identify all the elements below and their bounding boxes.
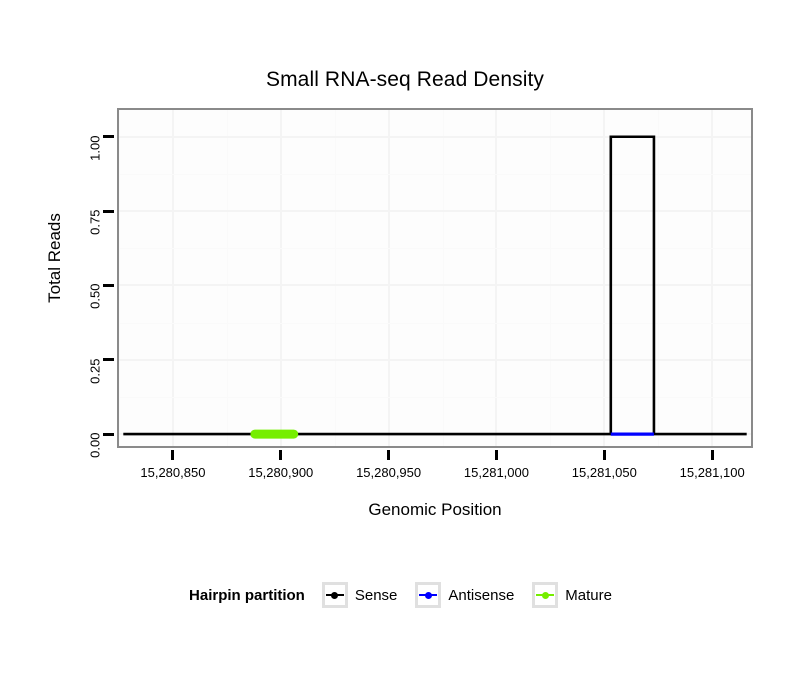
x-axis-tick	[171, 450, 174, 460]
data-layer	[119, 110, 751, 446]
legend-key-dot	[331, 592, 338, 599]
x-axis-tick	[387, 450, 390, 460]
legend-key-dot	[425, 592, 432, 599]
y-axis-tick-label: 1.00	[88, 135, 103, 235]
legend-key-dot	[542, 592, 549, 599]
legend-key-sense-icon	[322, 582, 348, 608]
y-axis-tick	[103, 284, 114, 287]
legend-label: Sense	[355, 587, 398, 604]
legend-title: Hairpin partition	[189, 587, 305, 604]
legend-key-mature-icon	[532, 582, 558, 608]
x-axis-tick-label: 15,280,900	[231, 465, 331, 480]
x-axis-tick	[495, 450, 498, 460]
plot-panel	[117, 108, 753, 448]
y-axis-tick	[103, 210, 114, 213]
legend-entry-mature[interactable]: Mature	[532, 582, 621, 608]
legend-entry-antisense[interactable]: Antisense	[415, 582, 523, 608]
x-axis-tick-label: 15,281,100	[662, 465, 762, 480]
x-axis-tick	[603, 450, 606, 460]
y-axis-tick	[103, 358, 114, 361]
legend: Hairpin partition SenseAntisenseMature	[0, 582, 810, 608]
legend-label: Mature	[565, 587, 612, 604]
x-axis-tick-label: 15,281,000	[446, 465, 546, 480]
x-axis-tick	[279, 450, 282, 460]
legend-label: Antisense	[448, 587, 514, 604]
series-line-sense	[123, 137, 746, 434]
x-axis-tick-label: 15,281,050	[554, 465, 654, 480]
x-axis-tick	[711, 450, 714, 460]
y-axis-title: Total Reads	[45, 158, 65, 358]
y-axis-tick	[103, 135, 114, 138]
legend-key-antisense-icon	[415, 582, 441, 608]
page-title: Small RNA-seq Read Density	[0, 68, 810, 92]
legend-entry-sense[interactable]: Sense	[322, 582, 407, 608]
x-axis-tick-label: 15,280,950	[339, 465, 439, 480]
x-axis-title: Genomic Position	[117, 500, 753, 520]
x-axis-tick-label: 15,280,850	[123, 465, 223, 480]
y-axis-tick	[103, 433, 114, 436]
panel-inner	[119, 110, 751, 446]
